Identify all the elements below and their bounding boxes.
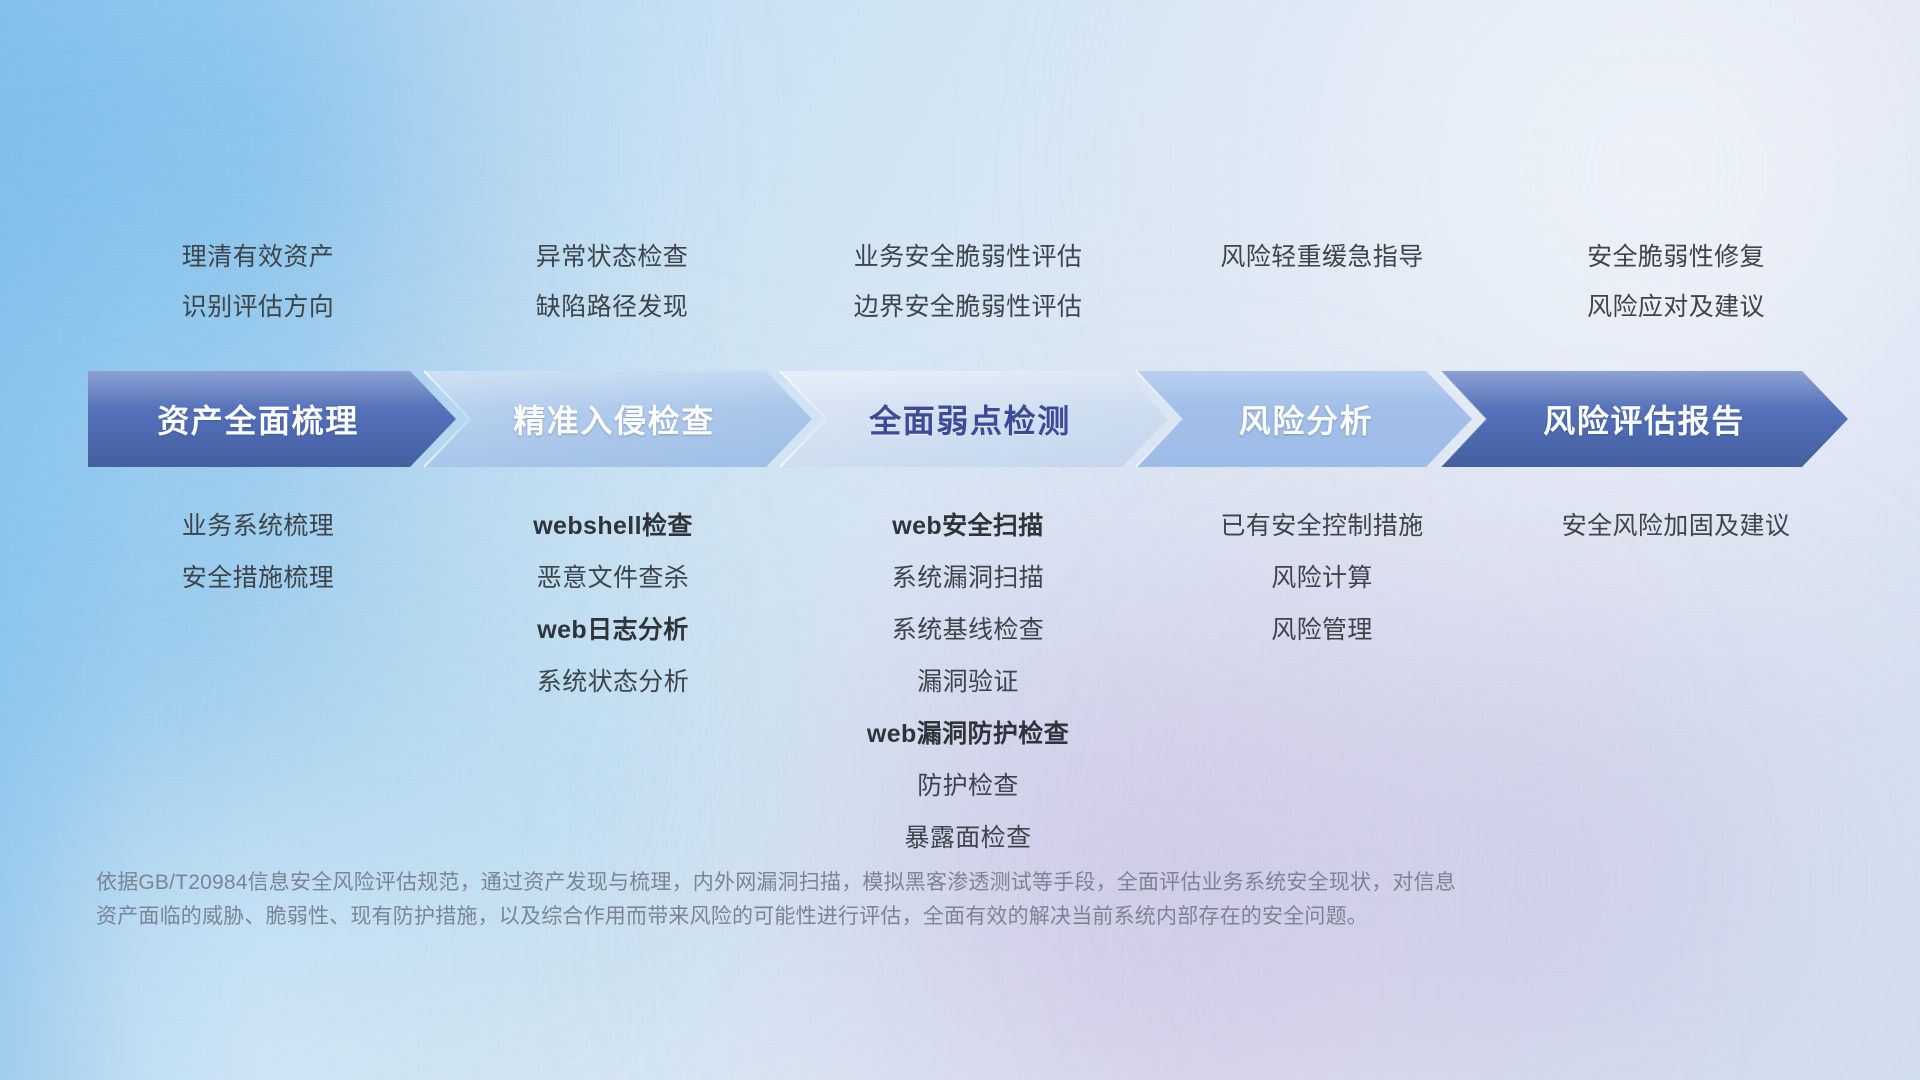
activity-item: 系统漏洞扫描 [892,558,1044,610]
activity-item: 风险管理 [1271,610,1373,662]
outcome-item: 安全脆弱性修复 [1587,232,1765,282]
activity-item: 业务系统梳理 [182,506,334,558]
chevron-step-weakness-detection [780,371,1168,467]
footer-description: 依据GB/T20984信息安全风险评估规范，通过资产发现与梳理，内外网漏洞扫描，… [96,866,1656,934]
outcome-item: 风险应对及建议 [1587,282,1765,332]
process-diagram: 理清有效资产 识别评估方向 异常状态检查 缺陷路径发现 业务安全脆弱性评估 边界… [0,0,1920,1080]
footer-line-2: 资产面临的威胁、脆弱性、现有防护措施，以及综合作用而带来风险的可能性进行评估，全… [96,900,1656,934]
chevron-step-risk-analysis [1136,371,1472,467]
activities-row: 业务系统梳理 安全措施梳理 webshell检查 恶意文件查杀 web日志分析 … [88,506,1848,870]
outcome-item: 风险轻重缓急指导 [1220,232,1423,282]
activities-column-risk-analysis: 已有安全控制措施 风险计算 风险管理 [1146,506,1498,870]
outcomes-column-weakness-detection: 业务安全脆弱性评估 边界安全脆弱性评估 [792,232,1144,332]
chevron-step-asset-inventory [88,371,456,467]
activity-item: 恶意文件查杀 [537,558,689,610]
activity-item: web安全扫描 [892,506,1043,558]
outcomes-column-intrusion-check: 异常状态检查 缺陷路径发现 [436,232,788,332]
outcome-item: 边界安全脆弱性评估 [854,282,1083,332]
activity-item: 风险计算 [1271,558,1373,610]
outcome-item: 理清有效资产 [182,232,334,282]
activities-column-weakness-detection: web安全扫描 系统漏洞扫描 系统基线检查 漏洞验证 web漏洞防护检查 防护检… [792,506,1144,870]
activities-column-risk-report: 安全风险加固及建议 [1500,506,1852,870]
activities-column-asset-inventory: 业务系统梳理 安全措施梳理 [82,506,434,870]
outcomes-column-risk-report: 安全脆弱性修复 风险应对及建议 [1500,232,1852,332]
outcome-item: 异常状态检查 [536,232,688,282]
activities-column-intrusion-check: webshell检查 恶意文件查杀 web日志分析 系统状态分析 [437,506,789,870]
outcomes-column-risk-analysis: 风险轻重缓急指导 [1146,232,1498,332]
chevron-step-risk-report [1440,371,1848,467]
footer-line-1: 依据GB/T20984信息安全风险评估规范，通过资产发现与梳理，内外网漏洞扫描，… [96,866,1656,900]
process-chevron-band: 资产全面梳理 精准入侵检查 全面弱点检测 风险分析 风险评估报告 [88,371,1848,467]
activity-item: 防护检查 [917,766,1019,818]
outcome-item: 识别评估方向 [182,282,334,332]
activity-item: 安全风险加固及建议 [1562,506,1791,558]
outcomes-column-asset-inventory: 理清有效资产 识别评估方向 [82,232,434,332]
activity-item: web漏洞防护检查 [867,714,1069,766]
activity-item: web日志分析 [537,610,688,662]
activity-item: 安全措施梳理 [182,558,334,610]
activity-item: 漏洞验证 [917,662,1019,714]
chevron-step-intrusion-check [424,371,812,467]
activity-item: 系统状态分析 [537,662,689,714]
activity-item: 暴露面检查 [904,818,1031,870]
outcome-item: 业务安全脆弱性评估 [854,232,1083,282]
outcome-item: 缺陷路径发现 [536,282,688,332]
outcomes-row: 理清有效资产 识别评估方向 异常状态检查 缺陷路径发现 业务安全脆弱性评估 边界… [88,232,1848,332]
activity-item: 系统基线检查 [892,610,1044,662]
activity-item: webshell检查 [533,506,693,558]
activity-item: 已有安全控制措施 [1220,506,1423,558]
